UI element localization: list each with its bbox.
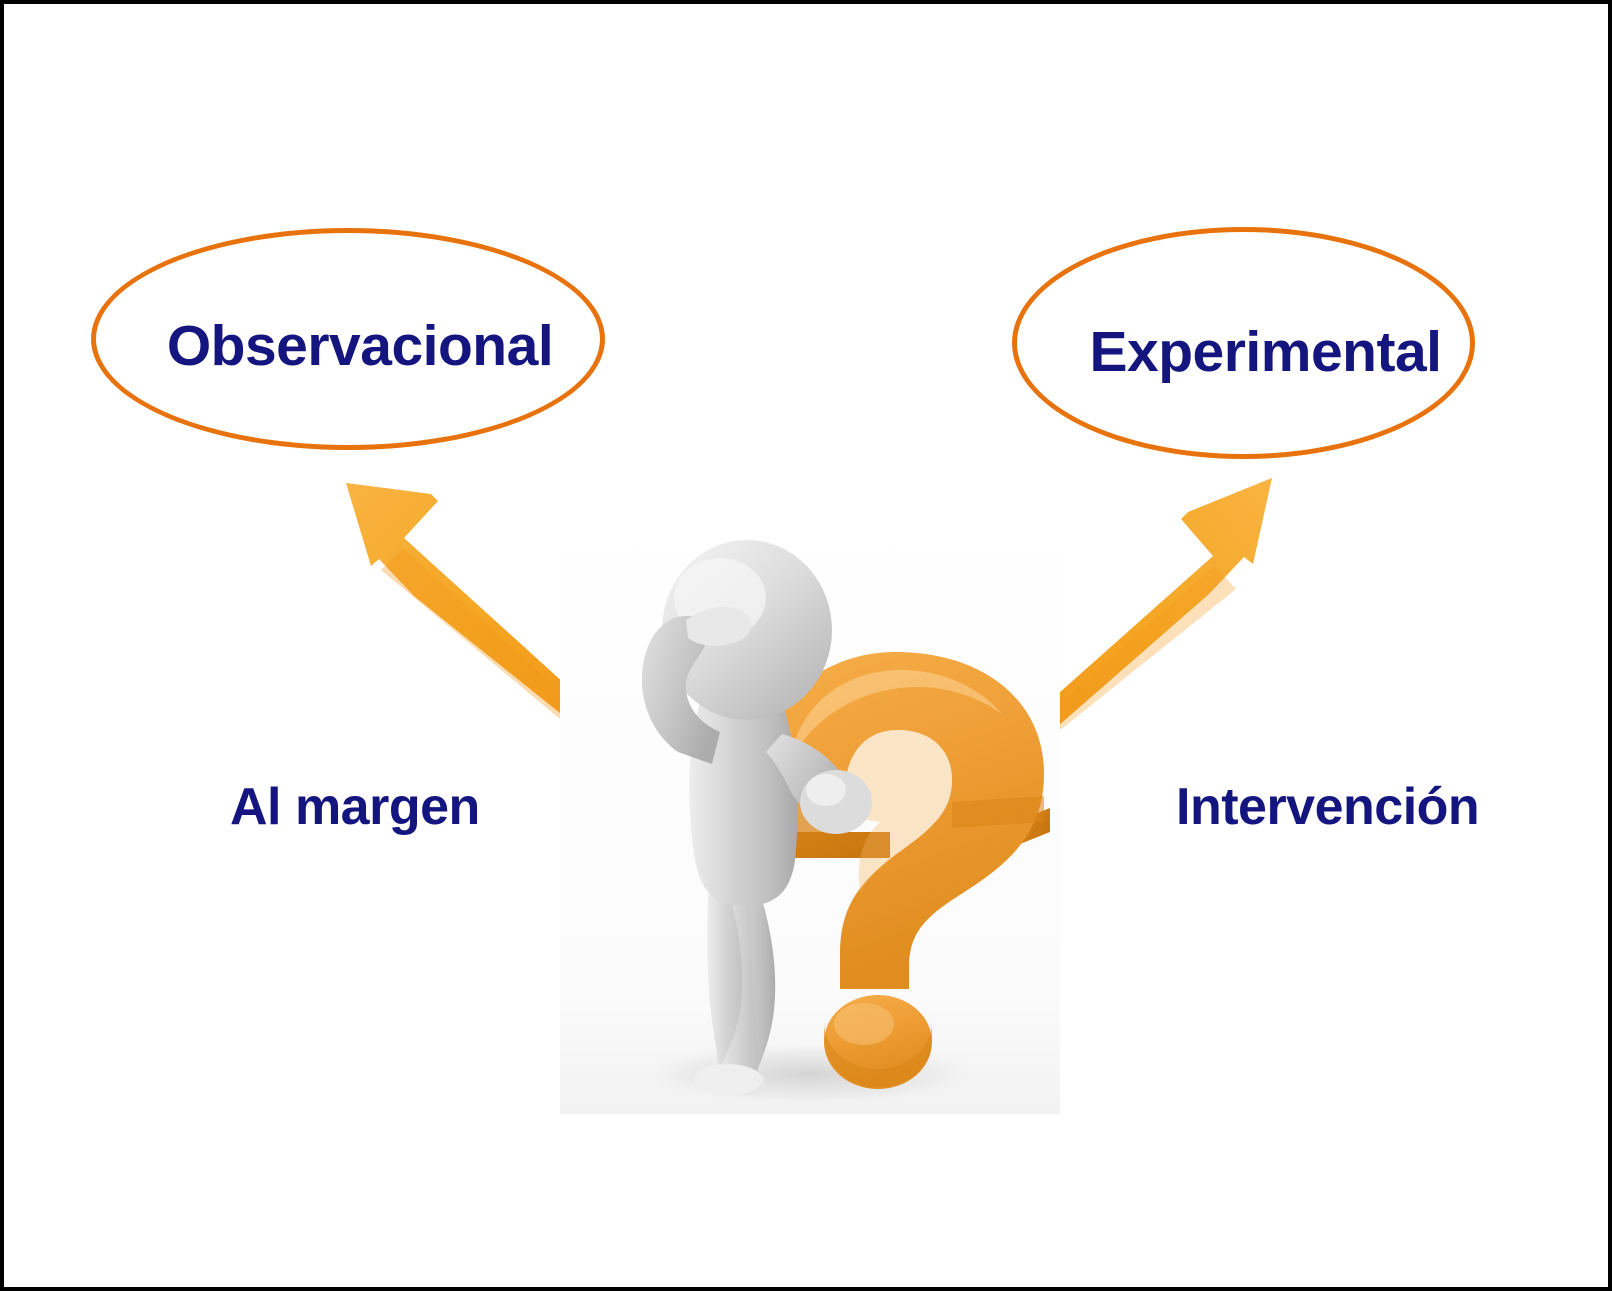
thinking-figure-with-question-mark-icon xyxy=(560,502,1060,1114)
node-observacional-label: Observacional xyxy=(167,318,553,375)
node-observacional[interactable]: Observacional xyxy=(91,228,605,450)
node-experimental[interactable]: Experimental xyxy=(1012,227,1475,459)
node-experimental-label: Experimental xyxy=(1090,324,1442,381)
center-illustration xyxy=(560,502,1060,1114)
diagram-canvas: Observacional Experimental Al margen Int… xyxy=(4,4,1608,1287)
diagram-page: Observacional Experimental Al margen Int… xyxy=(0,0,1612,1291)
label-intervencion: Intervención xyxy=(1176,781,1479,833)
label-al-margen: Al margen xyxy=(230,781,480,833)
arrow-to-observacional-icon xyxy=(346,483,586,723)
arrow-to-experimental-icon xyxy=(1032,478,1272,735)
